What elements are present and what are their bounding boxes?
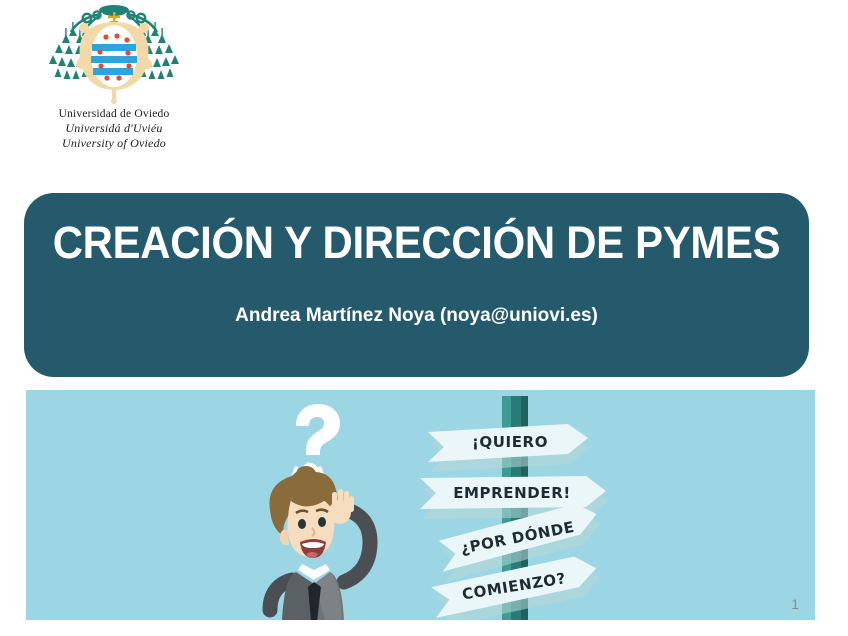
title-banner: CREACIÓN Y DIRECCIÓN DE PYMES Andrea Mar…: [24, 193, 809, 377]
author-subtitle: Andrea Martínez Noya (noya@uniovi.es): [24, 305, 809, 327]
logo-line-asturian: Universidá d'Uviéu: [24, 121, 204, 136]
logo-line-english: University of Oviedo: [24, 136, 204, 151]
signpost-icon: ¡QUIERO EMPRENDER! ¿POR DÓNDE COMIENZO?: [406, 396, 646, 620]
university-crest-icon: [39, 2, 189, 107]
svg-text:¡QUIERO: ¡QUIERO: [472, 433, 548, 451]
page-number: 1: [791, 596, 799, 612]
logo-line-spanish: Universidad de Oviedo: [24, 107, 204, 121]
illustration-panel: ¡QUIERO EMPRENDER! ¿POR DÓNDE COMIENZO? …: [26, 390, 815, 620]
svg-text:EMPRENDER!: EMPRENDER!: [453, 484, 571, 502]
page-title: CREACIÓN Y DIRECCIÓN DE PYMES: [51, 217, 781, 269]
sign-1: ¡QUIERO: [428, 424, 590, 472]
confused-businessman-icon: [248, 462, 398, 620]
university-logo: Universidad de Oviedo Universidá d'Uviéu…: [24, 2, 204, 151]
